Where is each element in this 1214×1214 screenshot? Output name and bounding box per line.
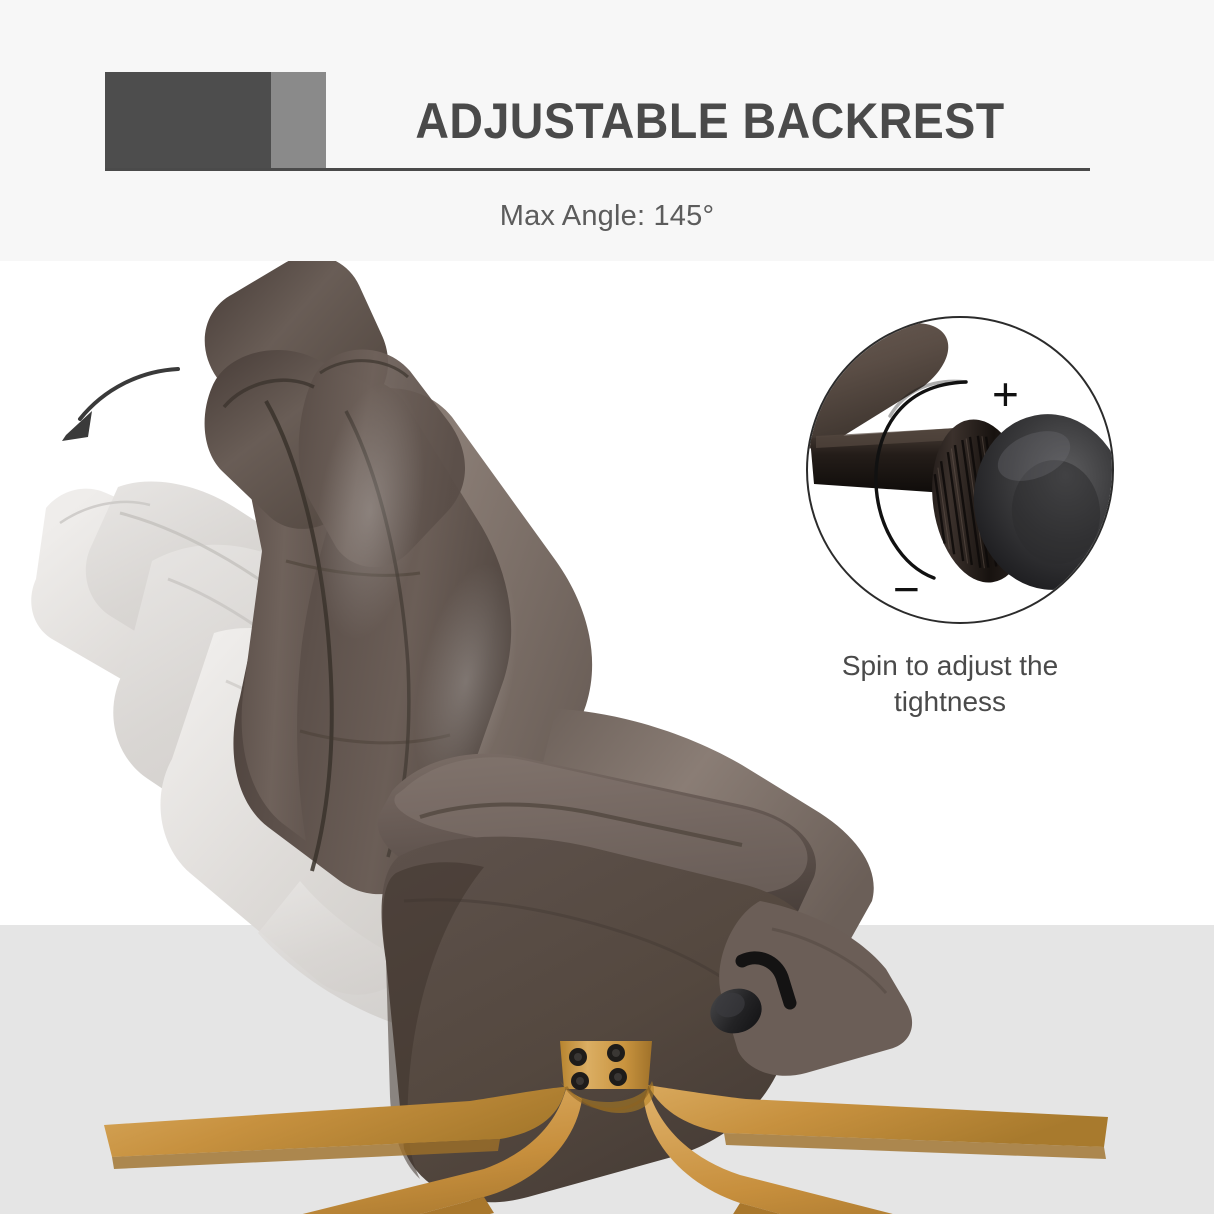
header-accent-block-light (271, 72, 326, 168)
decrease-sign: − (893, 566, 920, 612)
callout-caption-line2: tightness (894, 686, 1006, 717)
header-accent-block-dark (105, 72, 271, 168)
recline-direction-arrow (62, 369, 178, 441)
increase-sign: + (992, 371, 1019, 417)
leather-edge (806, 316, 948, 449)
header-subtitle: Max Angle: 145° (0, 200, 1214, 233)
page-title: ADJUSTABLE BACKREST (357, 75, 1064, 167)
infographic-page: ADJUSTABLE BACKREST Max Angle: 145° (0, 0, 1214, 1214)
callout-caption-line1: Spin to adjust the (842, 650, 1058, 681)
callout-caption: Spin to adjust the tightness (790, 648, 1110, 720)
header-divider (105, 168, 1090, 171)
knob-detail-callout: + − (806, 316, 1114, 624)
